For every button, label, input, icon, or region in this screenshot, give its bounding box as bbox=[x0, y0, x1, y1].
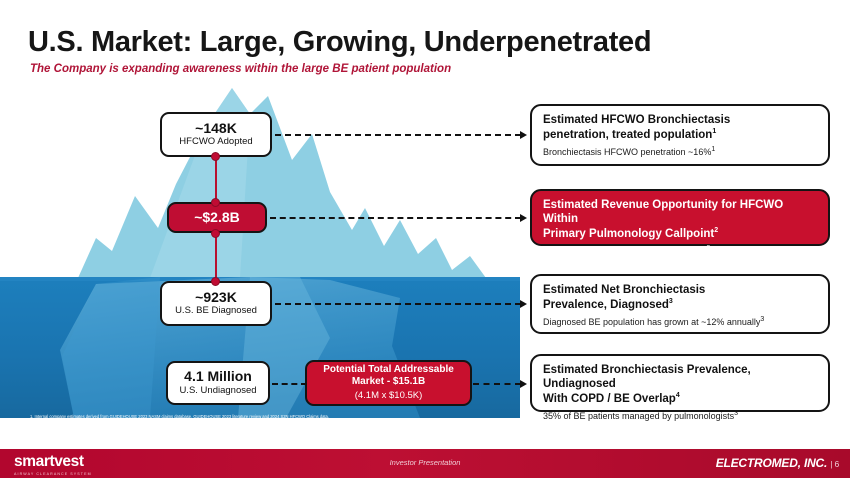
callout-heading: Estimated Bronchiectasis Prevalence, Und… bbox=[543, 364, 817, 406]
footnote-4: 4. Internal company estimates derived fr… bbox=[30, 433, 730, 439]
callout-heading-line-1: Estimated Net Bronchiectasis bbox=[543, 284, 705, 296]
callout-subtext: Bronchiectasis HFCWO penetration ~16%1 bbox=[543, 146, 817, 158]
callout-hfcwo-penetration[interactable]: Estimated HFCWO Bronchiectasis penetrati… bbox=[530, 104, 830, 166]
callout-heading-line-2: penetration, treated population bbox=[543, 129, 712, 141]
metric-value: ~$2.8B bbox=[194, 210, 240, 225]
footer-bar: smartvest AIRWAY CLEARANCE SYSTEM Invest… bbox=[0, 449, 850, 478]
callout-heading-superscript: 4 bbox=[676, 392, 680, 399]
arrow-dash bbox=[473, 383, 521, 385]
arrow-dash bbox=[275, 134, 521, 136]
arrow-dash bbox=[275, 303, 521, 305]
connector-dot-28b-bottom bbox=[211, 229, 220, 238]
callout-subtext-superscript: 3 bbox=[734, 410, 738, 417]
callout-subtext-body: Bronchiectasis HFCWO penetration ~16% bbox=[543, 147, 711, 157]
callout-subtext: ((923K – 148K) x 35% x $10.5K) = $2.8B2 bbox=[543, 245, 817, 257]
company-name: ELECTROMED, INC. bbox=[716, 456, 827, 470]
metric-pill-be-diagnosed[interactable]: ~923K U.S. BE Diagnosed bbox=[160, 281, 272, 326]
arrow-to-callout-2 bbox=[270, 213, 527, 223]
metric-label: HFCWO Adopted bbox=[179, 136, 252, 148]
callout-subtext-superscript: 3 bbox=[760, 316, 764, 323]
arrow-undiagnosed-to-tam bbox=[272, 379, 307, 389]
footer-company: ELECTROMED, INC. | 6 bbox=[716, 456, 839, 470]
connector-dot-923k bbox=[211, 277, 220, 286]
callout-heading-superscript: 1 bbox=[712, 128, 716, 135]
callout-heading-line-1: Estimated Bronchiectasis Prevalence, Und… bbox=[543, 364, 751, 390]
metric-label: U.S. BE Diagnosed bbox=[175, 305, 257, 317]
callout-subtext-body: Diagnosed BE population has grown at ~12… bbox=[543, 317, 760, 327]
page-number: | 6 bbox=[830, 459, 839, 469]
connector-dot-28b-top bbox=[211, 198, 220, 207]
callout-heading-superscript: 2 bbox=[714, 227, 718, 234]
arrow-head bbox=[520, 214, 527, 222]
total-addressable-market-box[interactable]: Potential Total Addressable Market - $15… bbox=[305, 360, 472, 406]
arrow-head bbox=[520, 380, 527, 388]
page-subtitle: The Company is expanding awareness withi… bbox=[30, 63, 451, 75]
metric-pill-undiagnosed[interactable]: 4.1 Million U.S. Undiagnosed bbox=[166, 361, 270, 405]
callout-heading: Estimated Revenue Opportunity for HFCWO … bbox=[543, 199, 817, 241]
callout-heading-superscript: 3 bbox=[669, 298, 673, 305]
arrow-dash bbox=[272, 383, 307, 385]
metric-value: ~923K bbox=[195, 290, 237, 305]
callout-net-prevalence-diagnosed[interactable]: Estimated Net Bronchiectasis Prevalence,… bbox=[530, 274, 830, 334]
callout-subtext-body: ((923K – 148K) x 35% x $10.5K) = $2.8B bbox=[543, 246, 706, 256]
tam-line-2: Market - $15.1B bbox=[352, 376, 425, 389]
arrow-to-callout-1 bbox=[275, 130, 527, 140]
arrow-head bbox=[520, 131, 527, 139]
tam-line-3: (4.1M x $10.5K) bbox=[355, 390, 423, 402]
callout-revenue-opportunity[interactable]: Estimated Revenue Opportunity for HFCWO … bbox=[530, 189, 830, 246]
arrow-to-callout-3 bbox=[275, 299, 527, 309]
connector-dot-148k bbox=[211, 152, 220, 161]
callout-heading-line-1: Estimated HFCWO Bronchiectasis bbox=[543, 114, 730, 126]
metric-value: ~148K bbox=[195, 121, 237, 136]
arrow-head bbox=[520, 300, 527, 308]
callout-subtext: Diagnosed BE population has grown at ~12… bbox=[543, 316, 817, 328]
callout-heading-line-2: With COPD / BE Overlap bbox=[543, 392, 676, 404]
arrow-tam-to-callout-4 bbox=[473, 379, 527, 389]
smartvest-tagline: AIRWAY CLEARANCE SYSTEM bbox=[14, 472, 92, 476]
callout-heading: Estimated HFCWO Bronchiectasis penetrati… bbox=[543, 114, 817, 142]
metric-pill-hfcwo-adopted[interactable]: ~148K HFCWO Adopted bbox=[160, 112, 272, 157]
callout-subtext-superscript: 1 bbox=[711, 146, 715, 153]
callout-heading-line-1: Estimated Revenue Opportunity for HFCWO … bbox=[543, 199, 783, 225]
callout-subtext-superscript: 2 bbox=[706, 245, 710, 252]
footnotes: 1. Internal company estimates derived fr… bbox=[30, 414, 730, 439]
callout-heading-line-2: Primary Pulmonology Callpoint bbox=[543, 227, 714, 239]
callout-prevalence-undiagnosed[interactable]: Estimated Bronchiectasis Prevalence, Und… bbox=[530, 354, 830, 412]
metric-label: U.S. Undiagnosed bbox=[179, 385, 256, 397]
arrow-dash bbox=[270, 217, 521, 219]
page-title: U.S. Market: Large, Growing, Underpenetr… bbox=[28, 26, 651, 59]
slide: U.S. Market: Large, Growing, Underpenetr… bbox=[0, 0, 850, 478]
metric-value: 4.1 Million bbox=[184, 369, 252, 384]
callout-heading: Estimated Net Bronchiectasis Prevalence,… bbox=[543, 284, 817, 312]
tam-line-1: Potential Total Addressable bbox=[323, 364, 454, 377]
callout-heading-line-2: Prevalence, Diagnosed bbox=[543, 299, 669, 311]
